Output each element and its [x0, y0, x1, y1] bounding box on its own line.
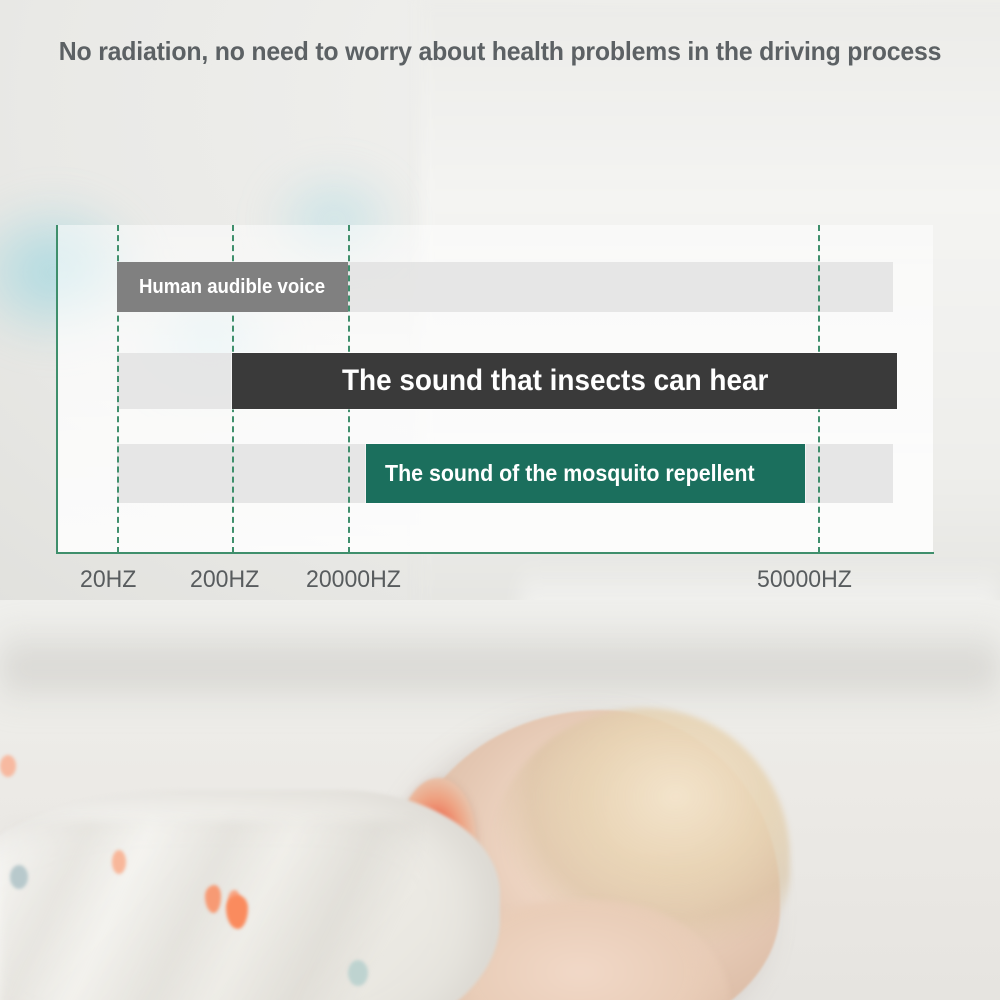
x-tick-label-200hz: 200HZ [190, 566, 259, 594]
bar-label-mosquito-repellent: The sound of the mosquito repellent [385, 460, 755, 487]
frequency-range-chart: Human audible voice The sound that insec… [0, 0, 1000, 620]
x-tick-label-50000hz: 50000HZ [757, 566, 852, 594]
x-axis-line [56, 552, 934, 554]
page-root: No radiation, no need to worry about hea… [0, 0, 1000, 1000]
y-axis-line [56, 225, 58, 554]
mattress-shadow [0, 620, 1000, 710]
bar-mosquito-repellent[interactable]: The sound of the mosquito repellent [366, 444, 805, 503]
x-tick-label-20000hz: 20000HZ [306, 566, 401, 594]
bar-insect-hearing[interactable]: The sound that insects can hear [232, 353, 897, 409]
pajama-print-dot [348, 960, 368, 986]
pajama-print-dot [112, 850, 126, 874]
bar-label-human-audible-voice: Human audible voice [139, 276, 325, 299]
x-tick-label-20hz: 20HZ [80, 566, 136, 594]
pajama-print-dot [0, 755, 16, 777]
bar-human-audible-voice[interactable]: Human audible voice [117, 262, 348, 312]
bar-label-insect-hearing: The sound that insects can hear [342, 364, 768, 398]
pajama-print-dot [10, 865, 28, 889]
sleeping-baby-photo [0, 600, 1000, 1000]
